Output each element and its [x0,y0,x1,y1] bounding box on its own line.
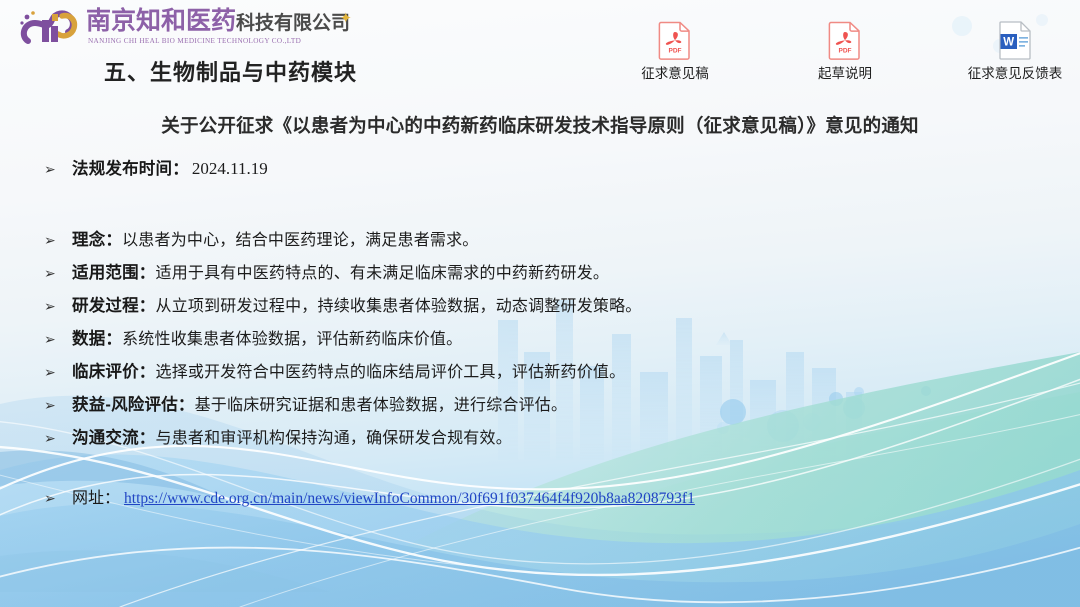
point-row-0: ➢ 理念： 以患者为中心，结合中医药理论，满足患者需求。 [44,226,479,250]
bullet-arrow-icon: ➢ [44,365,72,379]
attachment-label: 起草说明 [770,66,920,82]
bullet-arrow-icon: ➢ [44,332,72,346]
point-text: 以患者为中心，结合中医药理论，满足患者需求。 [122,226,478,250]
point-text: 适用于具有中医药特点的、有未满足临床需求的中药新药研发。 [156,259,610,283]
pdf-file-icon: PDF [658,20,692,60]
bullet-arrow-icon: ➢ [44,162,72,176]
attachment-item-0[interactable]: PDF 征求意见稿 [600,20,750,82]
attachment-item-2[interactable]: W 征求意见反馈表 [940,20,1080,82]
pdf-file-icon: PDF [828,20,862,60]
company-name-secondary: 科技有限公司 [236,13,350,34]
point-row-6: ➢ 沟通交流： 与患者和审评机构保持沟通，确保研发合规有效。 [44,424,512,448]
company-name-english: NANJING CHI HEAL BIO MEDICINE TECHNOLOGY… [88,37,301,45]
point-row-2: ➢ 研发过程： 从立项到研发过程中，持续收集患者体验数据，动态调整研发策略。 [44,292,642,316]
bullet-arrow-icon: ➢ [44,431,72,445]
point-text: 基于临床研究证据和患者体验数据，进行综合评估。 [195,391,568,415]
slide-canvas: 南京知和医药科技有限公司✦ NANJING CHI HEAL BIO MEDIC… [0,0,1080,607]
point-label: 获益-风险评估： [72,391,195,415]
publish-date-row: ➢ 法规发布时间： 2024.11.19 [44,155,268,179]
svg-text:PDF: PDF [669,48,682,55]
bullet-arrow-icon: ➢ [44,233,72,247]
point-label: 适用范围： [72,259,156,283]
url-label: 网址： [72,484,120,508]
point-text: 与患者和审评机构保持沟通，确保研发合规有效。 [156,424,512,448]
source-url-link[interactable]: https://www.cde.org.cn/main/news/viewInf… [120,490,695,508]
company-logo: 南京知和医药科技有限公司✦ NANJING CHI HEAL BIO MEDIC… [18,6,328,52]
publish-date-label: 法规发布时间： [72,155,189,179]
point-text: 系统性收集患者体验数据，评估新药临床价值。 [122,325,462,349]
logo-plus-icon: ✦ [339,5,352,33]
bullet-arrow-icon: ➢ [44,299,72,313]
point-row-3: ➢ 数据： 系统性收集患者体验数据，评估新药临床价值。 [44,325,462,349]
slide-header: 南京知和医药科技有限公司✦ NANJING CHI HEAL BIO MEDIC… [0,0,1080,100]
company-logo-icon [18,8,80,50]
point-label: 数据： [72,325,122,349]
point-label: 沟通交流： [72,424,156,448]
point-label: 理念： [72,226,122,250]
company-name-primary: 南京知和医药 [86,7,236,35]
bullet-arrow-icon: ➢ [44,266,72,280]
svg-text:W: W [1003,37,1014,49]
section-title: 五、生物制品与中药模块 [104,55,357,87]
point-text: 选择或开发符合中医药特点的临床结局评价工具，评估新药价值。 [156,358,626,382]
attachment-label: 征求意见反馈表 [940,66,1080,82]
point-label: 研发过程： [72,292,156,316]
svg-text:PDF: PDF [839,48,852,55]
attachment-item-1[interactable]: PDF 起草说明 [770,20,920,82]
point-row-1: ➢ 适用范围： 适用于具有中医药特点的、有未满足临床需求的中药新药研发。 [44,259,609,283]
point-text: 从立项到研发过程中，持续收集患者体验数据，动态调整研发策略。 [156,292,642,316]
point-row-5: ➢ 获益-风险评估： 基于临床研究证据和患者体验数据，进行综合评估。 [44,391,567,415]
point-label: 临床评价： [72,358,156,382]
company-name-chinese: 南京知和医药科技有限公司✦ [86,7,350,38]
point-row-4: ➢ 临床评价： 选择或开发符合中医药特点的临床结局评价工具，评估新药价值。 [44,358,625,382]
attachment-list: PDF 征求意见稿 PDF 起草说明 W [600,20,1070,95]
publish-date-value: 2024.11.19 [189,159,268,179]
url-row: ➢ 网址： https://www.cde.org.cn/main/news/v… [44,484,695,508]
bullet-arrow-icon: ➢ [44,491,72,505]
document-title: 关于公开征求《以患者为中心的中药新药临床研发技术指导原则（征求意见稿）》意见的通… [0,112,1080,138]
word-file-icon: W [998,20,1032,60]
attachment-label: 征求意见稿 [600,66,750,82]
bullet-arrow-icon: ➢ [44,398,72,412]
